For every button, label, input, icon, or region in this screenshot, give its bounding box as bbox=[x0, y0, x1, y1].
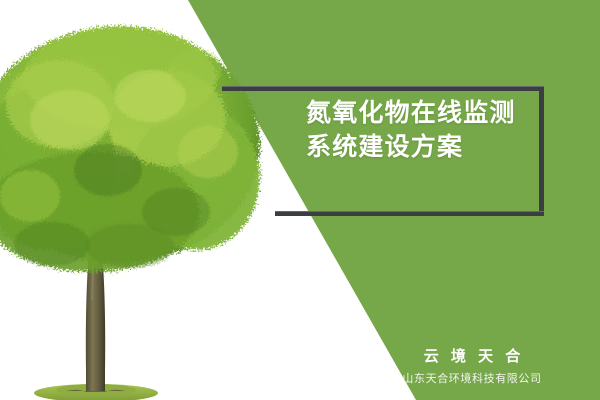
presentation-slide: 氮氧化物在线监测 系统建设方案 云 境 天 合 山东天合环境科技有限公司 bbox=[0, 0, 600, 400]
page-title: 氮氧化物在线监测 系统建设方案 bbox=[306, 96, 556, 164]
title-line-2: 系统建设方案 bbox=[306, 130, 556, 164]
brand-name: 云 境 天 合 bbox=[372, 346, 572, 368]
tree-illustration bbox=[0, 0, 280, 400]
title-line-1: 氮氧化物在线监测 bbox=[306, 96, 556, 130]
brand-block: 云 境 天 合 山东天合环境科技有限公司 bbox=[372, 346, 572, 388]
brand-company-name: 山东天合环境科技有限公司 bbox=[372, 370, 572, 388]
